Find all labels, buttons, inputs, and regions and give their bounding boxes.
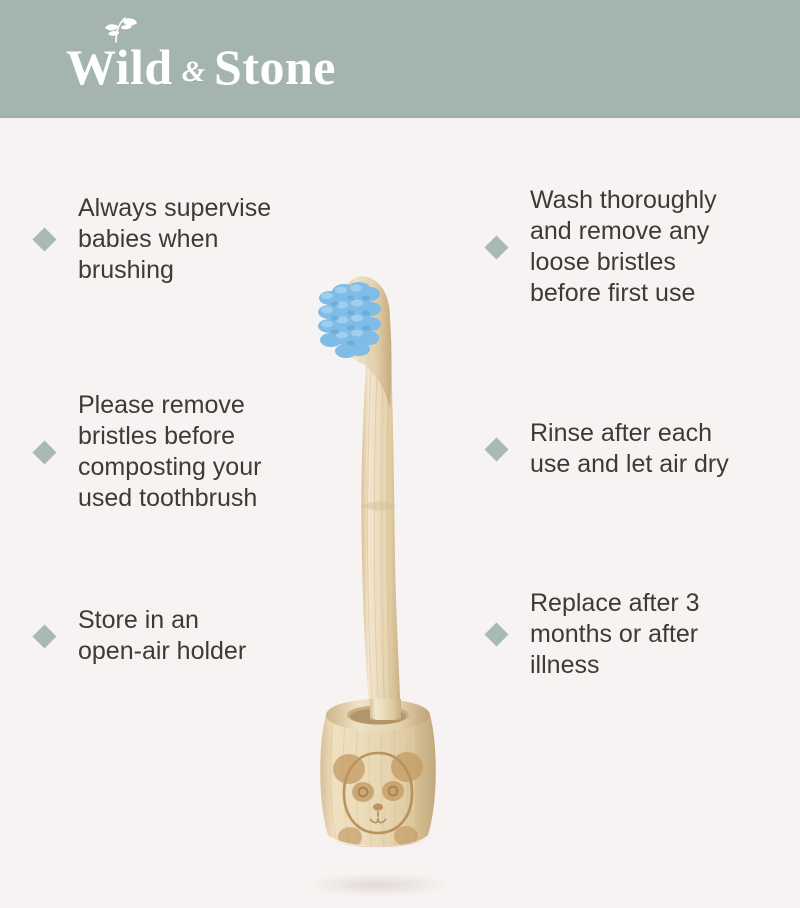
tip-text: Please remove bristles before composting… [78, 390, 261, 514]
tip-text: Rinse after each use and let air dry [530, 418, 729, 480]
logo-text-wild: Wild [66, 39, 173, 95]
tips-column-left: Always supervise babies when brushing Pl… [18, 118, 318, 800]
toothbrush-holder [320, 699, 436, 851]
tips-column-right: Wash thoroughly and remove any loose bri… [488, 118, 788, 800]
brand-logo: Wild & Stone [66, 38, 336, 96]
product-image-toothbrush-and-holder [300, 268, 500, 908]
brand-header: Wild & Stone [0, 0, 800, 118]
diamond-bullet-icon [32, 624, 56, 648]
diamond-bullet-icon [484, 235, 508, 259]
tip-text: Always supervise babies when brushing [78, 193, 271, 286]
tip-item: Store in an open-air holder [36, 605, 246, 667]
tip-text: Wash thoroughly and remove any loose bri… [530, 185, 717, 309]
tip-item: Rinse after each use and let air dry [488, 418, 729, 480]
logo-text-stone: Stone [214, 38, 336, 96]
toothbrush-handle [361, 328, 401, 720]
care-instructions-panel: Always supervise babies when brushing Pl… [0, 118, 800, 800]
diamond-bullet-icon [32, 440, 56, 464]
diamond-bullet-icon [32, 227, 56, 251]
tip-item: Replace after 3 months or after illness [488, 588, 700, 681]
tip-item: Please remove bristles before composting… [36, 390, 261, 514]
product-shadow [308, 873, 448, 897]
leaf-sprig-icon [94, 17, 138, 43]
logo-word-wild: Wild [66, 38, 173, 96]
tip-text: Store in an open-air holder [78, 605, 246, 667]
tip-item: Always supervise babies when brushing [36, 193, 271, 286]
tip-text: Replace after 3 months or after illness [530, 588, 700, 681]
logo-ampersand: & [182, 55, 205, 89]
tip-item: Wash thoroughly and remove any loose bri… [488, 185, 717, 309]
